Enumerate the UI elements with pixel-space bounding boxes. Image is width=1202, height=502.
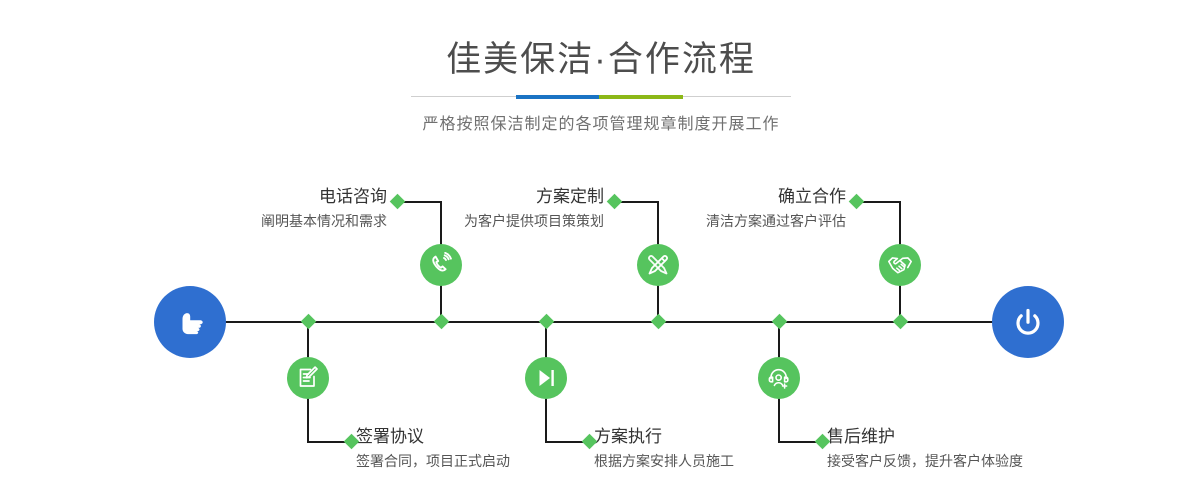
- step-icon-phone[interactable]: [420, 244, 462, 286]
- axis-marker-bottom-1: [301, 314, 317, 330]
- process-flow: 电话咨询 阐明基本情况和需求 方案定制 为客户提供项目策策划: [0, 0, 1202, 502]
- step-desc: 为客户提供项目策策划: [374, 210, 604, 232]
- step-label-bottom-1: 签署协议 签署合同，项目正式启动: [356, 426, 616, 472]
- document-sign-icon: [295, 365, 321, 391]
- phone-call-icon: [428, 252, 454, 278]
- step-name: 方案定制: [374, 186, 604, 208]
- axis-marker-top-3: [893, 314, 909, 330]
- power-icon: [1008, 302, 1048, 342]
- step-name: 方案执行: [594, 426, 854, 448]
- step-label-bottom-3: 售后维护 接受客户反馈，提升客户体验度: [827, 426, 1127, 472]
- step-desc: 阐明基本情况和需求: [157, 210, 387, 232]
- step-desc: 清洁方案通过客户评估: [616, 210, 846, 232]
- step-label-bottom-2: 方案执行 根据方案安排人员施工: [594, 426, 854, 472]
- axis-marker-bottom-2: [539, 314, 555, 330]
- label-marker-top-3: [849, 194, 865, 210]
- flow-infographic: 佳美保洁·合作流程 严格按照保洁制定的各项管理规章制度开展工作: [0, 0, 1202, 502]
- axis-marker-top-1: [434, 314, 450, 330]
- step-icon-play[interactable]: [525, 357, 567, 399]
- customer-service-icon: [766, 365, 792, 391]
- step-icon-pencil[interactable]: [637, 244, 679, 286]
- axis-marker-bottom-3: [772, 314, 788, 330]
- pointing-hand-icon: [170, 302, 210, 342]
- pencil-edit-icon: [645, 252, 671, 278]
- step-label-top-2: 方案定制 为客户提供项目策策划: [374, 186, 604, 232]
- step-name: 售后维护: [827, 426, 1127, 448]
- step-name: 电话咨询: [157, 186, 387, 208]
- step-label-top-3: 确立合作 清洁方案通过客户评估: [616, 186, 846, 232]
- step-icon-handshake[interactable]: [879, 244, 921, 286]
- step-desc: 接受客户反馈，提升客户体验度: [827, 450, 1127, 472]
- play-skip-icon: [533, 365, 559, 391]
- axis-marker-top-2: [651, 314, 667, 330]
- flow-end-node[interactable]: [992, 286, 1064, 358]
- step-icon-document[interactable]: [287, 357, 329, 399]
- step-desc: 签署合同，项目正式启动: [356, 450, 616, 472]
- handshake-icon: [887, 252, 913, 278]
- step-label-top-1: 电话咨询 阐明基本情况和需求: [157, 186, 387, 232]
- step-icon-support[interactable]: [758, 357, 800, 399]
- flow-start-node[interactable]: [154, 286, 226, 358]
- step-name: 签署协议: [356, 426, 616, 448]
- step-desc: 根据方案安排人员施工: [594, 450, 854, 472]
- step-name: 确立合作: [616, 186, 846, 208]
